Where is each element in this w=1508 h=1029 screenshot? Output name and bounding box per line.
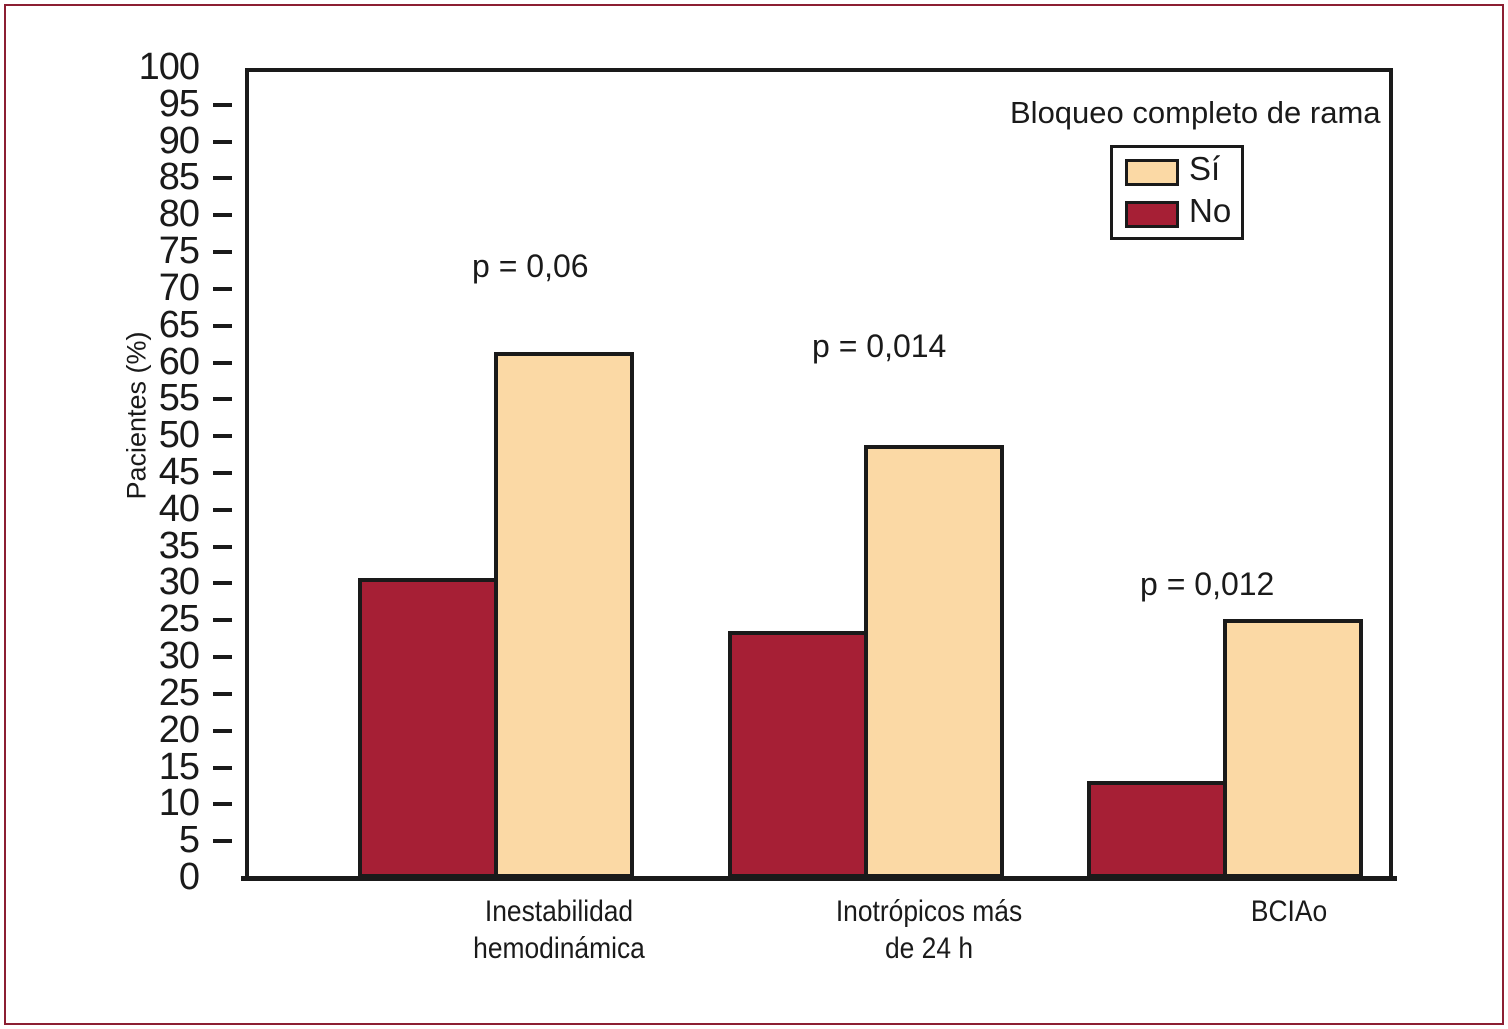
pvalue-bciao: p = 0,012 [1140,566,1274,603]
y-tick-mark [213,802,232,806]
legend-swatch-si [1125,159,1179,186]
bar-si-inotropicos[interactable] [864,445,1004,878]
legend-label-no: No [1189,192,1231,230]
x-label-line1: Inestabilidad [427,893,691,930]
figure-root: Pacientes (%) 10095908580757065605550454… [0,0,1508,1029]
x-label-line1: Inotrópicos más [797,893,1061,930]
y-tick-mark [213,397,232,401]
bar-si-bciao[interactable] [1223,619,1363,878]
x-label-line2: hemodinámica [427,930,691,967]
pvalue-inotropicos: p = 0,014 [812,328,946,365]
x-label-bciao: BCIAo [1157,893,1421,930]
y-tick-mark [213,471,232,475]
legend-title: Bloqueo completo de rama [1010,95,1381,131]
legend-label-si: Sí [1189,150,1220,188]
y-tick-mark [213,324,232,328]
y-tick-mark [213,766,232,770]
y-tick-label: 0 [179,855,199,899]
y-tick-mark [213,287,232,291]
bar-si-inestabilidad[interactable] [494,352,634,879]
y-tick-mark [213,140,232,144]
legend-box: Sí No [1110,145,1244,240]
y-tick-mark [213,839,232,843]
y-tick-mark [213,729,232,733]
y-tick-mark [213,655,232,659]
y-tick-mark [213,581,232,585]
y-axis-ticks: 1009590858075706560555045403530253025201… [0,0,245,1029]
y-tick-mark [213,103,232,107]
y-tick-mark [213,213,232,217]
y-tick-mark [213,361,232,365]
y-tick-mark [213,250,232,254]
y-tick-mark [213,692,232,696]
legend-swatch-no [1125,201,1179,228]
bar-no-inotropicos[interactable] [728,631,868,878]
y-tick-mark [213,508,232,512]
x-label-inotropicos: Inotrópicos más de 24 h [797,893,1061,967]
pvalue-inestabilidad: p = 0,06 [472,248,589,285]
y-tick-mark [213,618,232,622]
x-label-line1: BCIAo [1157,893,1421,930]
x-label-line2: de 24 h [797,930,1061,967]
bar-no-inestabilidad[interactable] [358,578,498,878]
x-label-inestabilidad: Inestabilidad hemodinámica [427,893,691,967]
y-tick-mark [213,176,232,180]
bar-no-bciao[interactable] [1087,781,1227,878]
y-tick-mark [213,434,232,438]
y-tick-mark [213,545,232,549]
